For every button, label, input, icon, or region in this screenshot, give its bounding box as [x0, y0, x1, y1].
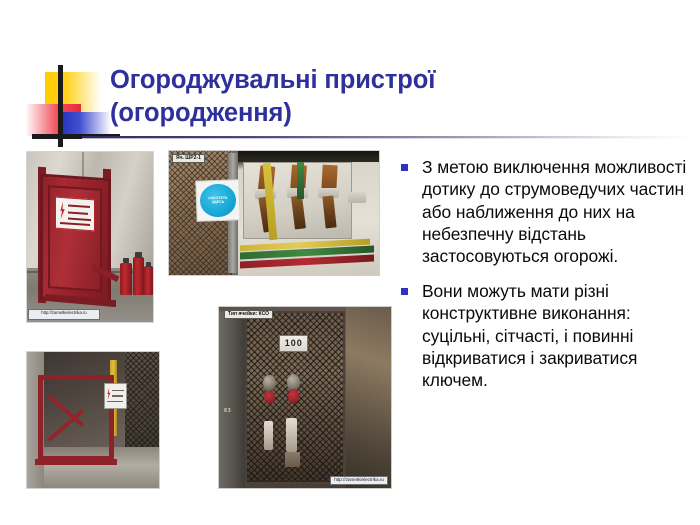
- photo2-safety-sign: РАБОТАТЬ ЗДЕСЬ: [196, 179, 241, 221]
- lightning-bolt-icon: [107, 388, 111, 400]
- slide-title: Огороджувальні пристрої (огородження): [110, 64, 670, 129]
- photo4-side-number: 83: [224, 408, 232, 414]
- photo1-scene: http://zametkielectrika.ru: [27, 152, 153, 322]
- bullet-list: З метою виключення можливості дотику до …: [398, 156, 694, 404]
- bullet-item-1: З метою виключення можливості дотику до …: [398, 156, 694, 268]
- photo1-barrier-panel: [40, 173, 111, 304]
- photo1-extinguisher-head: [146, 262, 151, 267]
- photo1-fire-extinguisher-1: [120, 263, 131, 295]
- photo4-left-cabinet-post: [219, 311, 245, 488]
- bullet-item-1-text: З метою виключення можливості дотику до …: [422, 156, 694, 268]
- photo2-cell-label: Яч. ШР2-1: [172, 154, 205, 163]
- photo1-sign-text-line: [68, 217, 91, 221]
- slide-title-line-1: Огороджувальні пристрої: [110, 64, 670, 97]
- work-here-sign-icon: РАБОТАТЬ ЗДЕСЬ: [200, 183, 236, 217]
- photo1-sign-text-line: [68, 211, 88, 214]
- photo2-busbar-3: [322, 164, 338, 191]
- photo4-adjacent-cabinet: [346, 307, 391, 488]
- photo3-warning-sign: [104, 383, 128, 409]
- photo2-safety-sign-line-2: ЗДЕСЬ: [212, 200, 225, 205]
- photo-red-x-gate-barrier: [26, 351, 160, 489]
- photo1-watermark: http://zametkielectrika.ru: [28, 309, 100, 320]
- photo4-scene: 100 83 Тип ячейки: КСО http://zametkiele…: [219, 307, 391, 488]
- photo3-sign-text-line: [112, 390, 124, 392]
- title-divider-rule-shadow: [82, 138, 692, 139]
- photo4-mesh-door: 100: [245, 311, 345, 485]
- lightning-bolt-icon: [59, 201, 66, 219]
- photo3-sign-text-line: [112, 395, 123, 397]
- photo1-sign-text-line: [68, 204, 90, 208]
- photo4-red-terminal-1: [264, 391, 275, 405]
- photo1-extinguisher-head: [135, 252, 142, 258]
- square-bullet-icon: [401, 288, 408, 295]
- photo2-green-strap: [297, 162, 304, 199]
- photo4-grounding-block: [285, 452, 300, 467]
- photo1-warning-sign: [55, 196, 95, 231]
- photo4-ceramic-insulator-2: [286, 418, 297, 452]
- photo1-fire-extinguisher-3: [144, 266, 153, 295]
- square-bullet-icon: [401, 164, 408, 171]
- photo4-watermark: http://zametkielectrika.ru: [330, 476, 388, 485]
- photo-switchgear-cell: РАБОТАТЬ ЗДЕСЬ Яч. ШР2-1: [168, 150, 380, 276]
- photo2-insulator-4: [348, 192, 367, 203]
- bullet-item-2-text: Вони можуть мати різні конструктивне вик…: [422, 280, 694, 392]
- photo4-panel-number-plate: 100: [279, 335, 308, 352]
- photo4-red-terminal-2: [288, 389, 299, 404]
- slide-canvas: Огороджувальні пристрої (огородження) З …: [0, 0, 700, 525]
- photo3-gate-base-rail: [35, 459, 117, 464]
- photo-red-wooden-barrier: http://zametkielectrika.ru: [26, 151, 154, 323]
- photo4-type-label: Тип ячейки: КСО: [224, 310, 273, 319]
- photo4-terminal-1: [263, 375, 275, 390]
- photo3-scene: [27, 352, 159, 488]
- bullet-item-2: Вони можуть мати різні конструктивне вик…: [398, 280, 694, 392]
- slide-title-line-2: (огородження): [110, 97, 670, 130]
- photo2-scene: РАБОТАТЬ ЗДЕСЬ Яч. ШР2-1: [169, 151, 379, 275]
- photo3-sign-text-line: [107, 401, 123, 403]
- photo1-fire-extinguisher-2: [133, 257, 144, 294]
- photo1-sign-text-line: [60, 222, 90, 226]
- photo1-extinguisher-head: [123, 258, 130, 263]
- photo2-top-rail: [238, 151, 379, 162]
- photo-kso-mesh-cabinet: 100 83 Тип ячейки: КСО http://zametkiele…: [218, 306, 392, 489]
- photo4-ceramic-insulator-1: [264, 421, 273, 450]
